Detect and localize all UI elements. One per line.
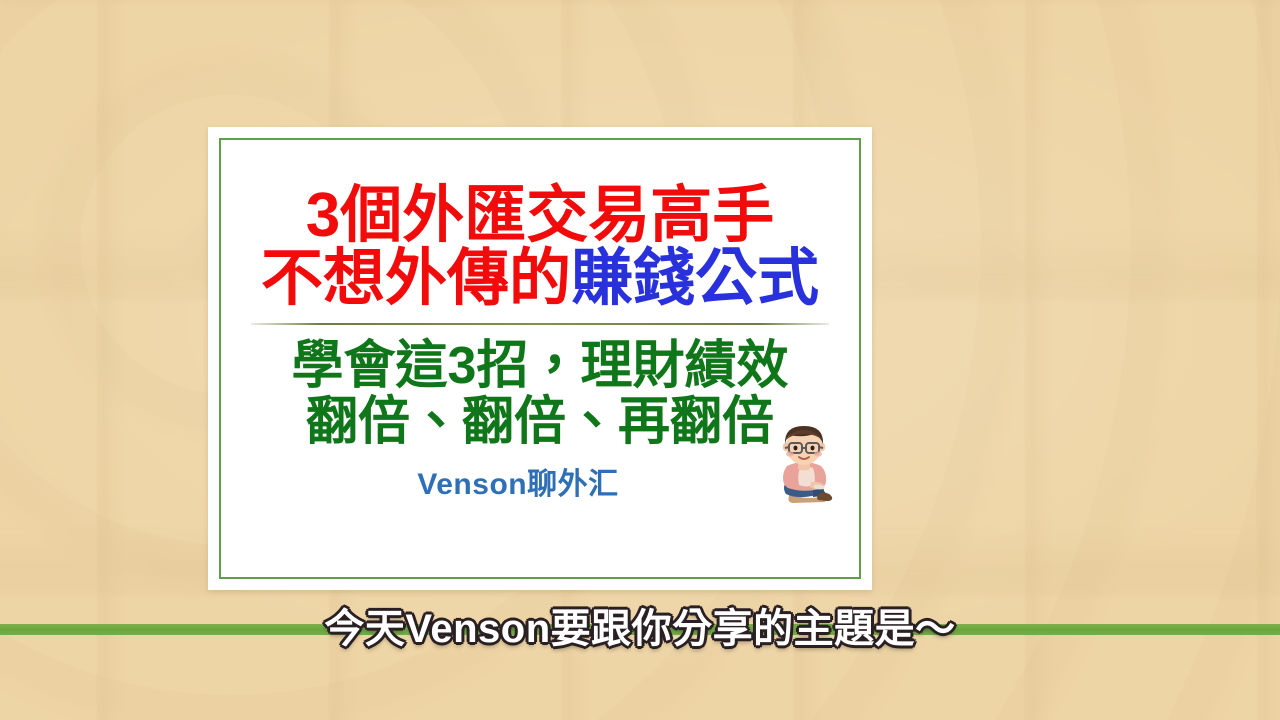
- venson-avatar-icon: [756, 416, 852, 512]
- video-slide: 3個外匯交易高手 不想外傳的賺錢公式 學會這3招，理財績效 翻倍、翻倍、再翻倍 …: [0, 0, 1280, 720]
- headline-line-2-blue-segment: 賺錢公式: [571, 244, 819, 313]
- headline: 3個外匯交易高手 不想外傳的賺錢公式: [261, 184, 819, 310]
- headline-line-2-red-segment: 不想外傳的: [261, 244, 571, 313]
- card-divider-line: [251, 323, 829, 325]
- headline-line-1: 3個外匯交易高手: [261, 184, 819, 247]
- brand-row: Venson聊外汇: [208, 459, 872, 503]
- subheadline-line-1: 學會這3招，理財績效: [292, 339, 789, 395]
- card-content: 3個外匯交易高手 不想外傳的賺錢公式 學會這3招，理財績效 翻倍、翻倍、再翻倍 …: [208, 127, 872, 590]
- subheadline: 學會這3招，理財績效 翻倍、翻倍、再翻倍: [292, 339, 789, 450]
- headline-line-2: 不想外傳的賺錢公式: [261, 247, 819, 310]
- subheadline-line-2: 翻倍、翻倍、再翻倍: [292, 395, 789, 451]
- brand-name: Venson聊外汇: [417, 459, 618, 503]
- title-card: 3個外匯交易高手 不想外傳的賺錢公式 學會這3招，理財績效 翻倍、翻倍、再翻倍 …: [208, 127, 872, 590]
- subtitle-caption: 今天Venson要跟你分享的主題是～: [0, 596, 1280, 654]
